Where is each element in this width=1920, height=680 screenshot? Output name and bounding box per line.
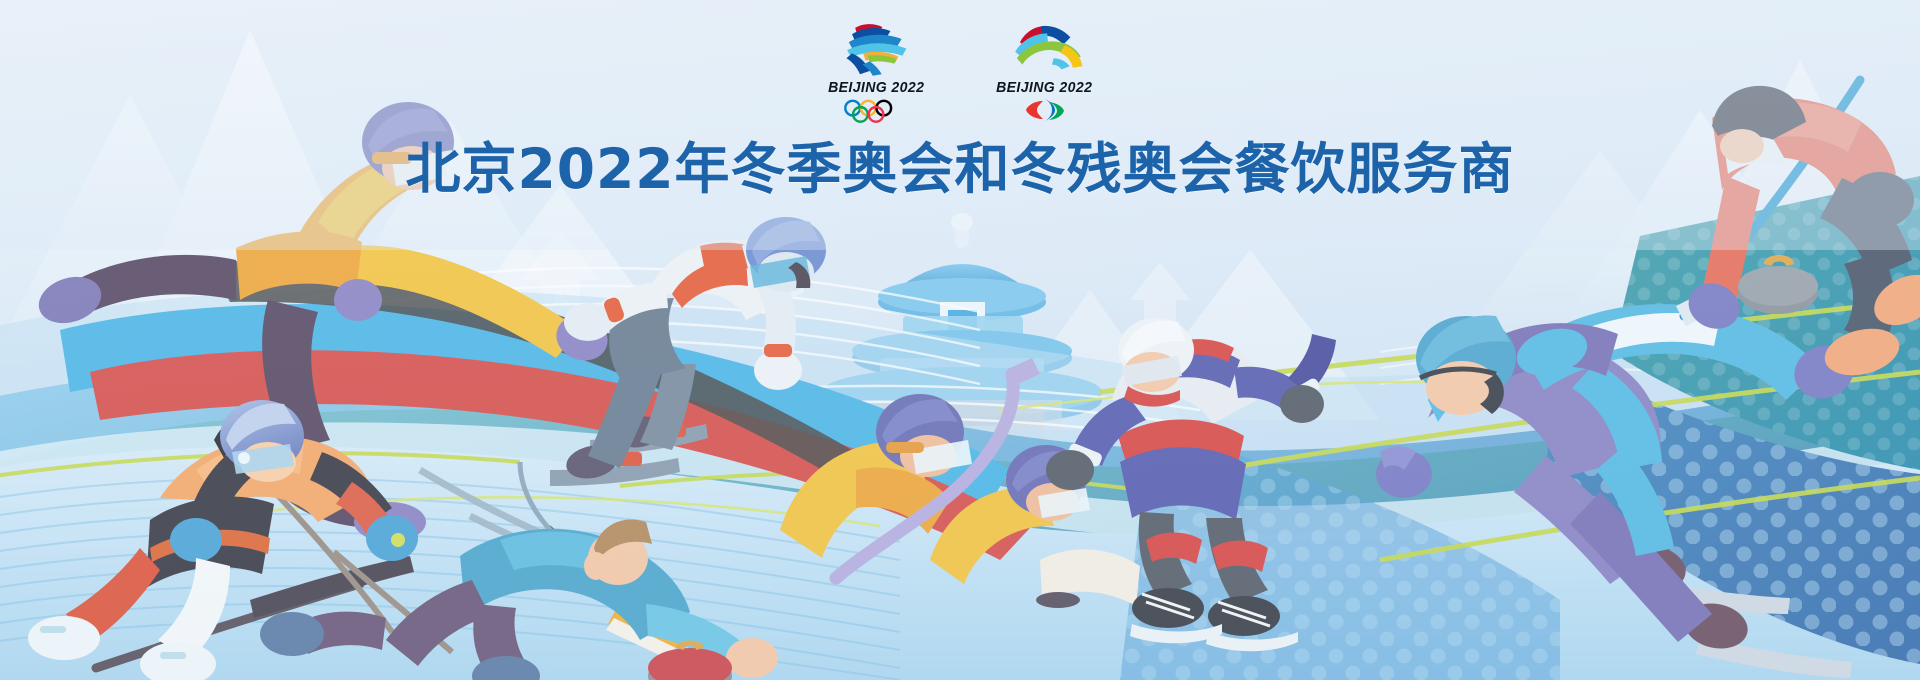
beijing-2022-olympic-logo: BEIJING 2022 (816, 18, 936, 124)
beijing-2022-paralympic-logo: BEIJING 2022 (984, 18, 1104, 122)
paralympic-agitos (1020, 98, 1068, 122)
paralympic-wordmark: BEIJING 2022 (996, 79, 1092, 96)
beijing-2022-paralympic-emblem (996, 18, 1092, 76)
emblem-row: BEIJING 2022 BEIJING 20 (0, 18, 1920, 124)
beijing-2022-olympic-emblem (828, 18, 924, 76)
olympic-wordmark: BEIJING 2022 (828, 79, 924, 96)
olympic-sponsor-banner: BEIJING 2022 BEIJING 20 (0, 0, 1920, 680)
page-title: 北京2022年冬季奥会和冬残奥会餐饮服务商 (0, 124, 1920, 204)
olympic-rings (840, 98, 912, 124)
